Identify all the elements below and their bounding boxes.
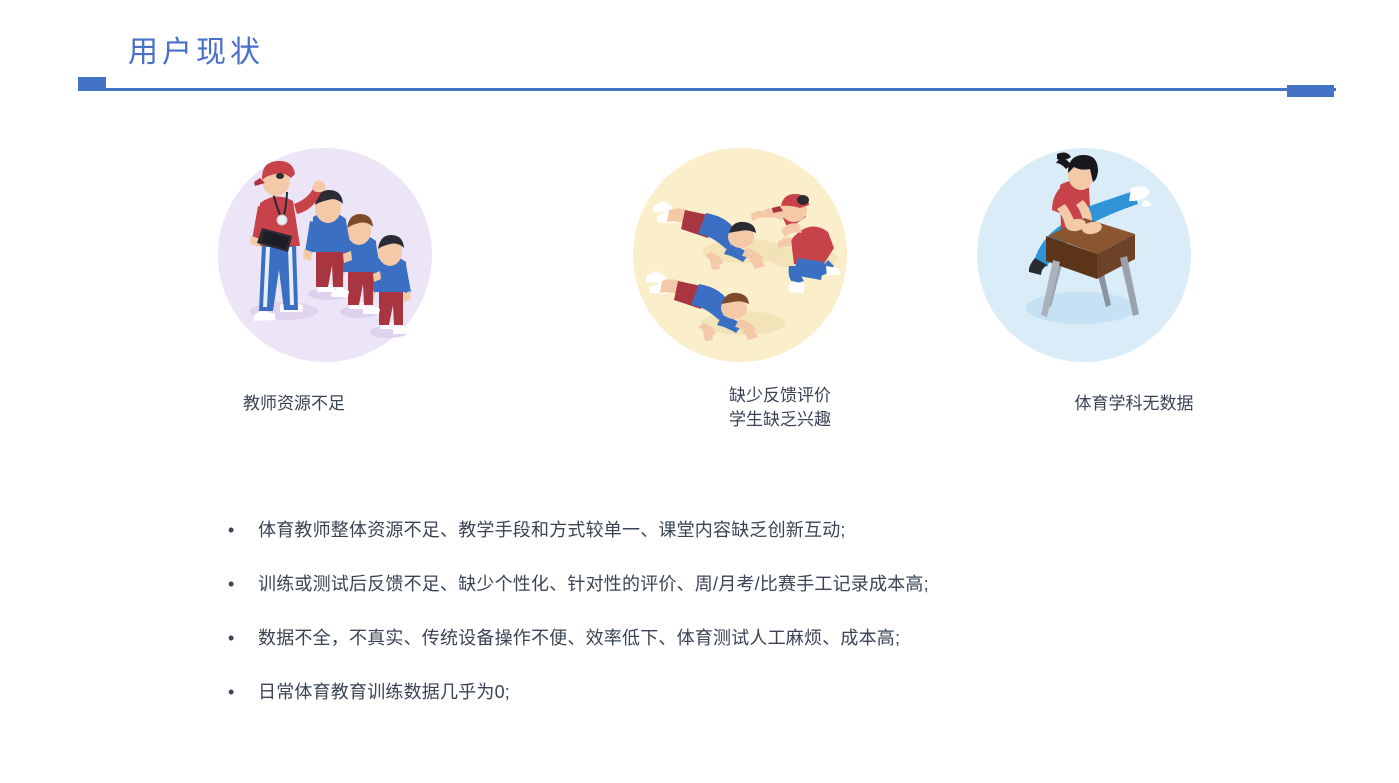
list-item: • 体育教师整体资源不足、教学手段和方式较单一、课堂内容缺乏创新互动; bbox=[228, 516, 1328, 570]
illustration-card-teacher-shortage: 教师资源不足 bbox=[175, 120, 475, 450]
students-pushups-coach-illustration bbox=[633, 148, 847, 362]
illustration-row: 教师资源不足 bbox=[0, 120, 1399, 450]
list-item: • 训练或测试后反馈不足、缺少个性化、针对性的评价、周/月考/比赛手工记录成本高… bbox=[228, 570, 1328, 624]
illustration-caption-line2: 学生缺乏兴趣 bbox=[630, 408, 930, 432]
list-item-text: 数据不全，不真实、传统设备操作不便、效率低下、体育测试人工麻烦、成本高; bbox=[248, 624, 900, 652]
gymnast-pommel-horse-illustration bbox=[977, 148, 1191, 362]
illustration-caption-line1: 缺少反馈评价 bbox=[630, 384, 930, 408]
list-item: • 数据不全，不真实、传统设备操作不便、效率低下、体育测试人工麻烦、成本高; bbox=[228, 624, 1328, 678]
illustration-card-no-sports-data: 体育学科无数据 bbox=[934, 120, 1234, 450]
illustration-caption-line1: 体育学科无数据 bbox=[984, 392, 1284, 416]
illustration-caption: 教师资源不足 bbox=[144, 392, 444, 416]
bullet-marker: • bbox=[228, 570, 248, 598]
bullet-marker: • bbox=[228, 516, 248, 544]
illustration-caption-line1: 教师资源不足 bbox=[144, 392, 444, 416]
coach-with-students-illustration bbox=[218, 148, 432, 362]
header-rule bbox=[78, 88, 1336, 91]
page-title: 用户现状 bbox=[128, 27, 264, 71]
list-item-text: 体育教师整体资源不足、教学手段和方式较单一、课堂内容缺乏创新互动; bbox=[248, 516, 846, 544]
illustration-caption: 缺少反馈评价 学生缺乏兴趣 bbox=[630, 384, 930, 432]
illustration-caption: 体育学科无数据 bbox=[984, 392, 1284, 416]
bullet-marker: • bbox=[228, 678, 248, 706]
bullet-list: • 体育教师整体资源不足、教学手段和方式较单一、课堂内容缺乏创新互动; • 训练… bbox=[228, 516, 1328, 732]
page-header: 用户现状 bbox=[0, 0, 1399, 110]
illustration-card-lack-of-feedback: 缺少反馈评价 学生缺乏兴趣 bbox=[590, 120, 890, 450]
header-rule-right-cap bbox=[1287, 85, 1334, 97]
bullet-marker: • bbox=[228, 624, 248, 652]
list-item: • 日常体育教育训练数据几乎为0; bbox=[228, 678, 1328, 732]
list-item-text: 训练或测试后反馈不足、缺少个性化、针对性的评价、周/月考/比赛手工记录成本高; bbox=[248, 570, 929, 598]
list-item-text: 日常体育教育训练数据几乎为0; bbox=[248, 678, 510, 706]
